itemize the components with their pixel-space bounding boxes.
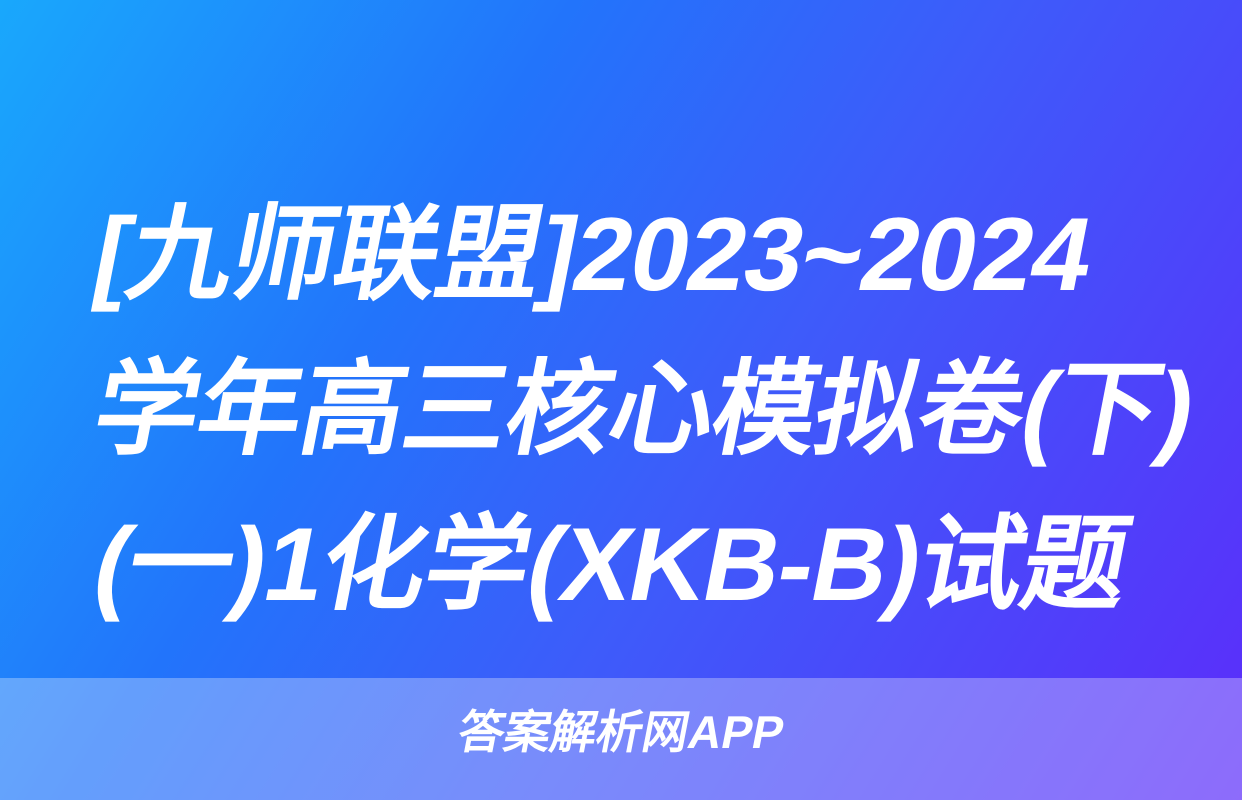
title-line-1: [九师联盟]2023~2024 [81, 178, 1181, 333]
page-title: [九师联盟]2023~2024 学年高三核心模拟卷(下) (一)1化学(XKB-… [96, 178, 1166, 643]
title-line-2: 学年高三核心模拟卷(下) [81, 333, 1181, 488]
exam-cover-card: [九师联盟]2023~2024 学年高三核心模拟卷(下) (一)1化学(XKB-… [0, 0, 1242, 800]
footer-watermark-label: 答案解析网APP [453, 704, 788, 760]
footer-watermark: 答案解析网APP [0, 704, 1242, 760]
title-line-3: (一)1化学(XKB-B)试题 [81, 488, 1181, 643]
